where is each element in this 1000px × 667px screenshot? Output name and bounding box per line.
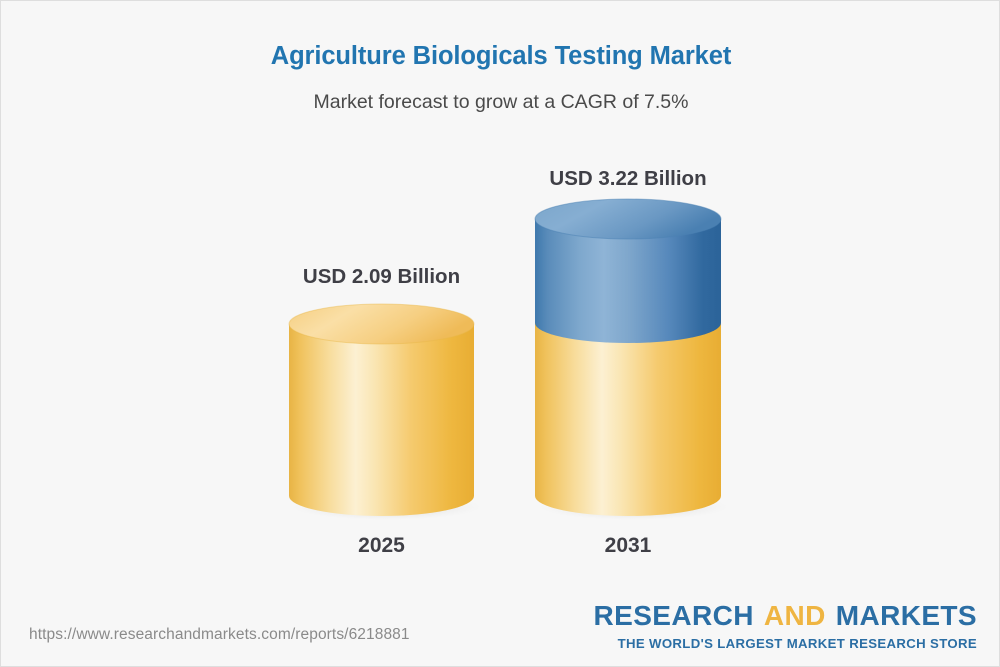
cylinder-bar-2025[interactable] — [289, 304, 474, 516]
brand-logo-wordmark: RESEARCHANDMARKETS — [594, 602, 977, 630]
bar-category-label-2031: 2031 — [535, 534, 721, 558]
infographic-canvas: Agriculture Biologicals Testing Market M… — [0, 0, 1000, 667]
brand-logo[interactable]: RESEARCHANDMARKETS THE WORLD'S LARGEST M… — [594, 602, 977, 650]
cylinder-2025-svg — [289, 304, 474, 516]
brand-word-and: AND — [764, 600, 826, 631]
bar-group-2025: USD 2.09 Billion — [289, 1, 474, 601]
cylinder-bar-2031[interactable] — [535, 199, 721, 516]
brand-word-research: RESEARCH — [594, 600, 754, 631]
chart-plot-area: USD 2.09 Billion — [1, 1, 1000, 601]
cylinder-body-2025 — [289, 324, 474, 516]
report-url[interactable]: https://www.researchandmarkets.com/repor… — [29, 626, 410, 644]
bar-category-label-2025: 2025 — [289, 534, 474, 558]
bar-value-label-2025: USD 2.09 Billion — [289, 265, 474, 289]
bar-group-2031: USD 3.22 Billion — [535, 1, 721, 601]
brand-word-markets: MARKETS — [836, 600, 977, 631]
bar-value-label-2031: USD 3.22 Billion — [535, 167, 721, 191]
cylinder-2031-svg — [535, 199, 721, 516]
cylinder-segment-yellow-2031 — [535, 323, 721, 516]
brand-tagline: THE WORLD'S LARGEST MARKET RESEARCH STOR… — [594, 637, 977, 650]
